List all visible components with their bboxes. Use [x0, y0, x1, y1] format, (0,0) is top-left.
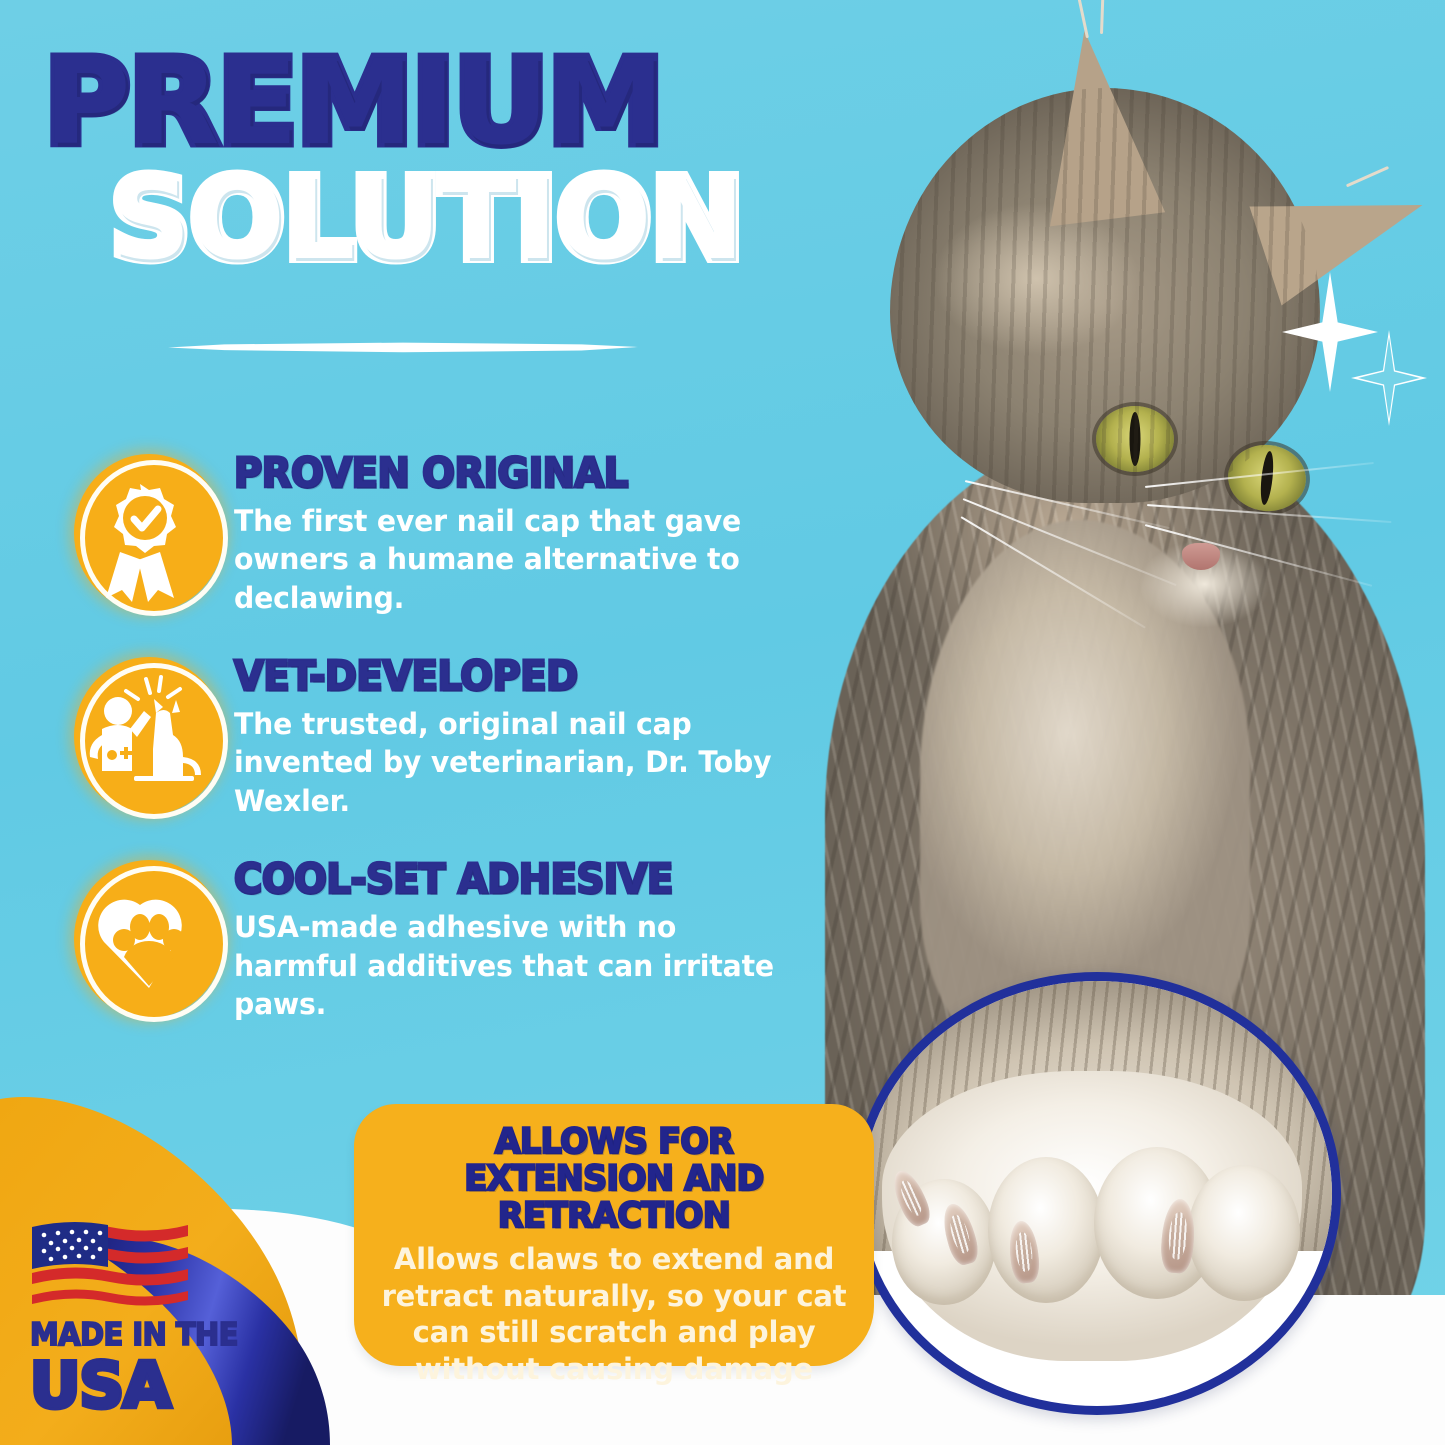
paw-toe [1188, 1165, 1300, 1301]
feature-title: VET-DEVELOPED [234, 655, 794, 698]
vet-high-five-cat-icon [60, 651, 220, 819]
feature-item: VET-DEVELOPED The trusted, original nail… [60, 651, 830, 820]
feature-description: The first ever nail cap that gave owners… [234, 502, 806, 617]
callout-title: ALLOWS FOR EXTENSION AND RETRACTION [388, 1124, 840, 1235]
award-ribbon-check-icon [60, 448, 220, 616]
heart-paw-glyph [60, 854, 220, 1022]
award-ribbon-check-glyph [60, 448, 220, 616]
headline-solution: SOLUTION [110, 164, 834, 276]
headline-premium: PREMIUM [44, 48, 834, 158]
feature-description: USA-made adhesive with no harmful additi… [234, 908, 806, 1023]
cat-whiskers [845, 420, 1265, 640]
usa-label: USA [30, 1355, 260, 1417]
feature-text: VET-DEVELOPED The trusted, original nail… [234, 651, 830, 820]
headline-block: PREMIUM SOLUTION [44, 48, 834, 276]
feature-title: COOL-SET ADHESIVE [234, 858, 794, 901]
made-in-the-label: MADE IN THE [30, 1317, 244, 1353]
feature-list: PROVEN ORIGINAL The first ever nail cap … [60, 448, 830, 1057]
cat-paw-inset [853, 972, 1341, 1415]
cat-ear-left-icon [1027, 24, 1165, 227]
cat-ear-right-icon [1249, 156, 1438, 306]
feature-text: PROVEN ORIGINAL The first ever nail cap … [234, 448, 830, 617]
sparkle-star-small-icon [1351, 330, 1427, 426]
feature-item: PROVEN ORIGINAL The first ever nail cap … [60, 448, 830, 617]
made-in-usa-badge: MADE IN THE USA [30, 1215, 260, 1417]
feature-item: COOL-SET ADHESIVE USA-made adhesive with… [60, 854, 830, 1023]
feature-title: PROVEN ORIGINAL [234, 452, 794, 495]
feature-description: The trusted, original nail cap invented … [234, 705, 806, 820]
callout-body: Allows claws to extend and retract natur… [376, 1241, 852, 1387]
feature-text: COOL-SET ADHESIVE USA-made adhesive with… [234, 854, 830, 1023]
headline-divider [168, 336, 638, 358]
usa-flag-icon [30, 1215, 190, 1307]
extension-retraction-callout: ALLOWS FOR EXTENSION AND RETRACTION Allo… [354, 1104, 874, 1366]
heart-paw-icon [60, 854, 220, 1022]
vet-high-five-cat-glyph [60, 651, 220, 819]
product-infographic: PREMIUM SOLUTION PROVEN ORIGINAL The fir… [0, 0, 1445, 1445]
paw-toe [988, 1157, 1104, 1303]
